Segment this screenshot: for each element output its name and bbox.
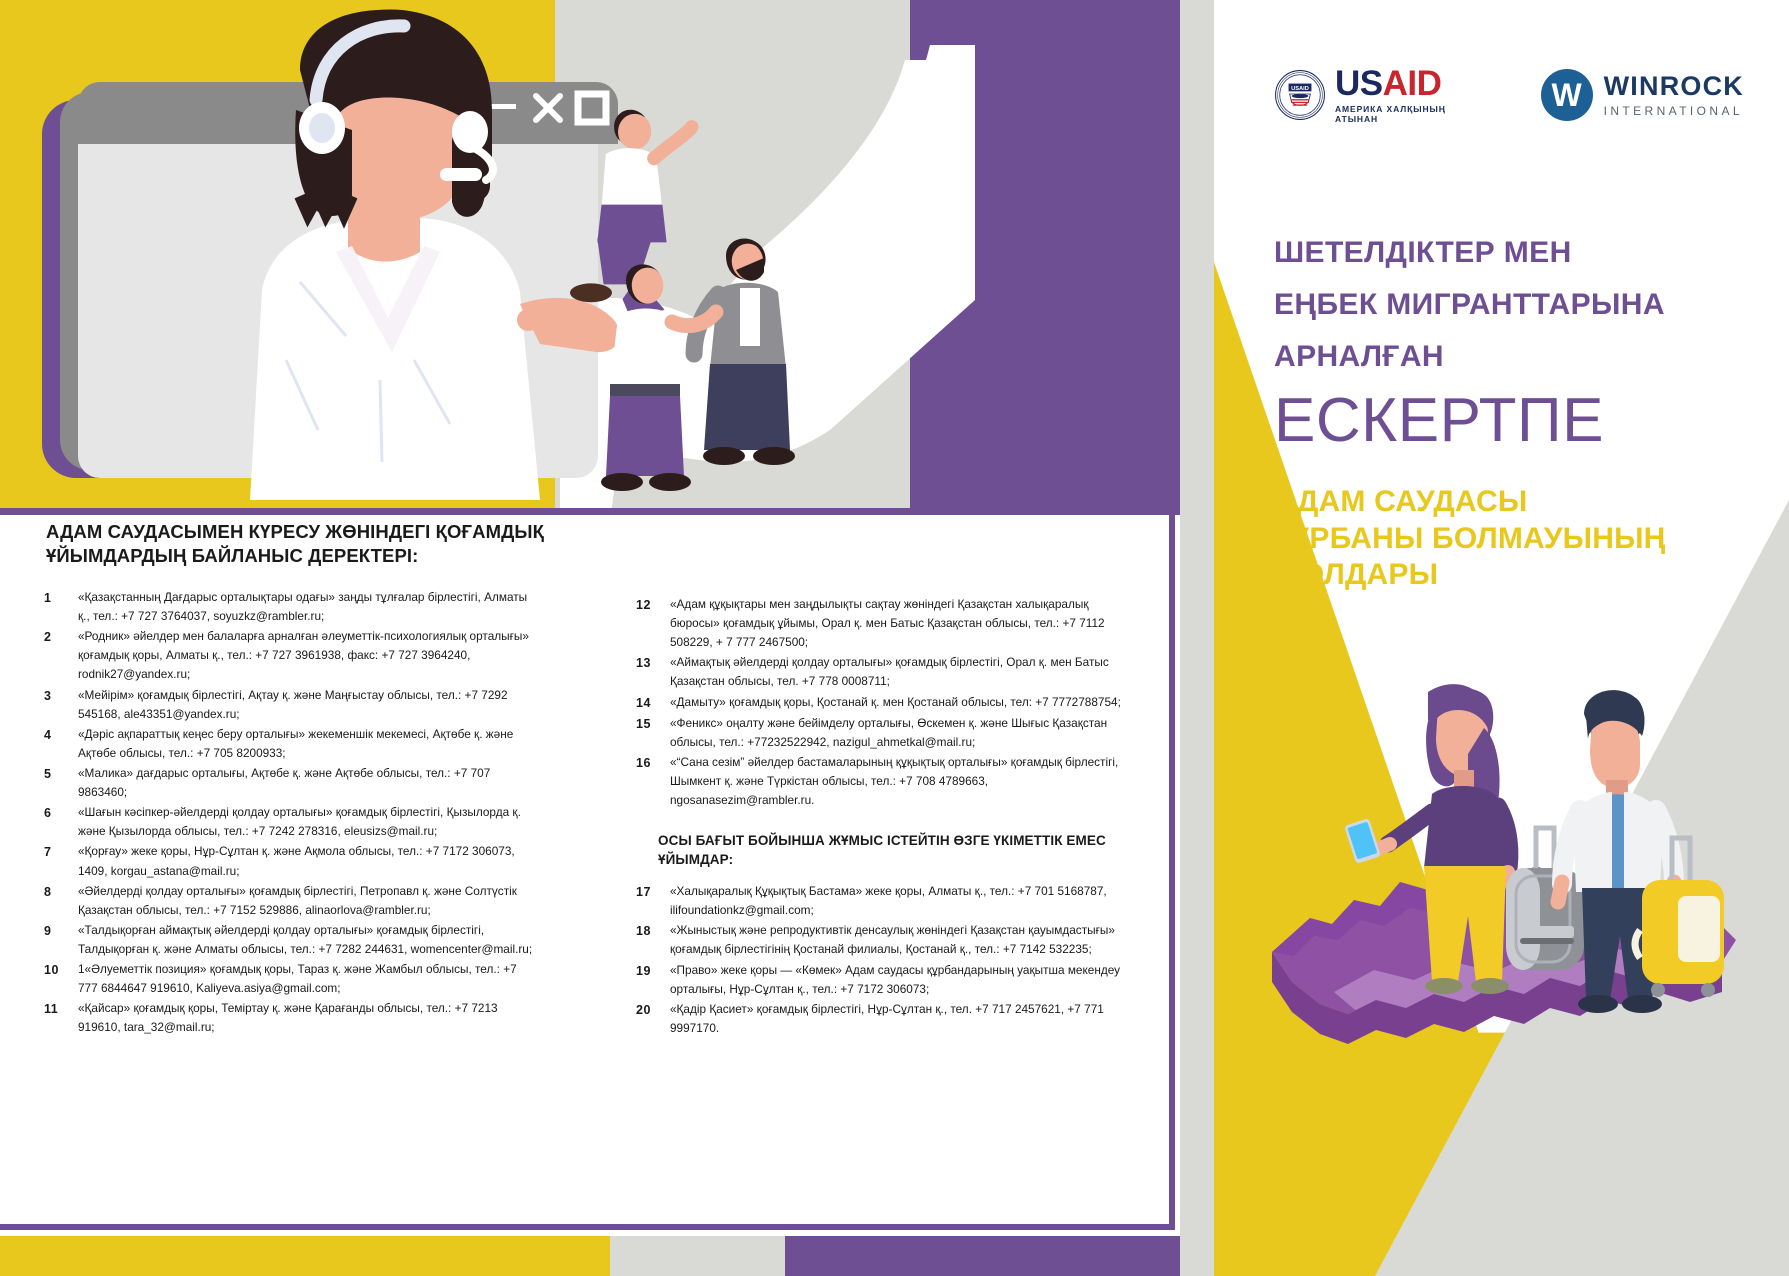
cover-subtitle-line-2: ҚҰРБАНЫ БОЛМАУЫНЫҢ [1274,521,1774,558]
contacts-column-right: 12«Адам құқықтары мен заңдылықты сақтау … [628,595,1128,1039]
contact-list-item: 3«Мейірім» қоғамдық бірлестігі, Ақтау қ.… [36,686,536,724]
contact-item-text: «Қадір Қасиет» қоғамдық бірлестігі, Нұр-… [670,1000,1128,1038]
contact-item-number: 18 [628,921,670,959]
usaid-word-aid: AID [1383,64,1442,103]
purple-divider-rule [0,508,1180,515]
contact-item-number: 6 [36,803,78,841]
contact-item-number: 9 [36,921,78,959]
usaid-seal-icon: USAID [1274,69,1326,121]
logo-row: USAID USAID АМЕРИКА ХАЛҚЫНЫҢ АТЫНАН [1274,50,1744,140]
background-strip-grey [1180,0,1214,1276]
contact-item-number: 5 [36,764,78,802]
winrock-logo: W WINROCK INTERNATIONAL [1541,69,1744,121]
contacts-column-left: 1«Қазақстанның Дағдарыс орталықтары одағ… [36,588,536,1039]
contact-item-text: «Қайсар» қоғамдық қоры, Теміртау қ. және… [78,999,536,1037]
winrock-mark-letter: W [1552,79,1582,111]
contact-item-number: 13 [628,653,670,691]
contact-list-item: 4«Дәріс ақпараттық кеңес беру орталығы» … [36,725,536,763]
contact-item-number: 8 [36,882,78,920]
contact-list-item: 7«Қорғау» жеке қоры, Нұр-Сұлтан қ. және … [36,842,536,880]
cover-subtitle-line-1: АДАМ САУДАСЫ [1274,484,1774,521]
contact-list-item: 18«Жыныстық және репродуктивтік денсаулы… [628,921,1128,959]
contacts-heading: АДАМ САУДАСЫМЕН КҮРЕСУ ЖӨНІНДЕГІ ҚОҒАМДЫ… [46,520,606,568]
migrants-on-kazakhstan-map-illustration [1214,600,1789,1220]
contact-item-text: «Шағын кәсіпкер-әйелдерді қолдау орталығ… [78,803,536,841]
contact-item-text: «Адам құқықтары мен заңдылықты сақтау жө… [670,595,1128,652]
contact-item-number: 7 [36,842,78,880]
contact-list-item: 13«Аймақтық әйелдерді қолдау орталығы» қ… [628,653,1128,691]
footer-bar-grey [610,1236,785,1276]
contact-list-item: 9«Талдықорған аймақтық әйелдерді қолдау … [36,921,536,959]
contact-list-item: 101«Әлуеметтік позиция» қоғамдық қоры, Т… [36,960,536,998]
contact-list-item: 19«Право» жеке қоры — «Көмек» Адам сауда… [628,961,1128,999]
contact-item-text: «Халықаралық Құқықтық Бастама» жеке қоры… [670,882,1128,920]
svg-text:USAID: USAID [1291,86,1309,92]
contact-item-text: 1«Әлуеметтік позиция» қоғамдық қоры, Тар… [78,960,536,998]
cover-title-line-3: АРНАЛҒАН [1274,342,1774,372]
contact-list-item: 14«Дамыту» қоғамдық қоры, Қостанай қ. ме… [628,693,1128,713]
contact-list-item: 5«Малика» дағдарыс орталығы, Ақтөбе қ. ж… [36,764,536,802]
contacts-subheading: ОСЫ БАҒЫТ БОЙЫНША ЖҰМЫС ІСТЕЙТІН ӨЗГЕ ҮК… [658,832,1128,870]
cover-title-main: ЕСКЕРТПЕ [1274,390,1774,452]
contact-list-item: 16«“Сана сезім” әйелдер бастамаларының қ… [628,753,1128,810]
winrock-wordmark: WINROCK [1604,73,1744,100]
cover-subtitle: АДАМ САУДАСЫ ҚҰРБАНЫ БОЛМАУЫНЫҢ ЖОЛДАРЫ [1274,484,1774,594]
contact-item-number: 17 [628,882,670,920]
contact-item-number: 11 [36,999,78,1037]
contact-item-text: «Малика» дағдарыс орталығы, Ақтөбе қ. жә… [78,764,536,802]
contact-item-text: «Феникс» оңалту және бейімделу орталығы,… [670,714,1128,752]
contact-item-number: 10 [36,960,78,998]
contact-list-item: 12«Адам құқықтары мен заңдылықты сақтау … [628,595,1128,652]
contact-item-number: 19 [628,961,670,999]
cover-title: ШЕТЕЛДІКТЕР МЕН ЕҢБЕК МИГРАНТТАРЫНА АРНА… [1274,238,1774,452]
contact-item-text: «Родник» әйелдер мен балаларға арналған … [78,627,536,684]
contact-item-text: «“Сана сезім” әйелдер бастамаларының құқ… [670,753,1128,810]
winrock-subtitle: INTERNATIONAL [1604,104,1744,118]
contact-list-item: 2«Родник» әйелдер мен балаларға арналған… [36,627,536,684]
contact-item-text: «Право» жеке қоры — «Көмек» Адам саудасы… [670,961,1128,999]
contact-item-number: 14 [628,693,670,713]
contact-item-number: 3 [36,686,78,724]
contact-item-number: 20 [628,1000,670,1038]
contact-item-text: «Талдықорған аймақтық әйелдерді қолдау о… [78,921,536,959]
usaid-tagline: АМЕРИКА ХАЛҚЫНЫҢ АТЫНАН [1335,104,1489,124]
contact-item-number: 12 [628,595,670,652]
cover-subtitle-line-3: ЖОЛДАРЫ [1274,557,1774,594]
winrock-w-icon: W [1541,69,1593,121]
contact-item-number: 15 [628,714,670,752]
contact-item-text: «Жыныстық және репродуктивтік денсаулық … [670,921,1128,959]
contact-item-number: 16 [628,753,670,810]
contact-item-text: «Дәріс ақпараттық кеңес беру орталығы» ж… [78,725,536,763]
contact-item-number: 1 [36,588,78,626]
contact-item-text: «Қазақстанның Дағдарыс орталықтары одағы… [78,588,536,626]
cover-panel: USAID USAID АМЕРИКА ХАЛҚЫНЫҢ АТЫНАН [1214,0,1789,1276]
brochure-page: АДАМ САУДАСЫМЕН КҮРЕСУ ЖӨНІНДЕГІ ҚОҒАМДЫ… [0,0,1789,1276]
contact-list-item: 17«Халықаралық Құқықтық Бастама» жеке қо… [628,882,1128,920]
cover-title-line-1: ШЕТЕЛДІКТЕР МЕН [1274,238,1774,268]
contact-item-text: «Қорғау» жеке қоры, Нұр-Сұлтан қ. және А… [78,842,536,880]
footer-bar-yellow [0,1236,610,1276]
usaid-logo: USAID USAID АМЕРИКА ХАЛҚЫНЫҢ АТЫНАН [1274,66,1489,124]
contact-list-item: 20«Қадір Қасиет» қоғамдық бірлестігі, Нұ… [628,1000,1128,1038]
contact-item-number: 4 [36,725,78,763]
contact-item-text: «Аймақтық әйелдерді қолдау орталығы» қоғ… [670,653,1128,691]
call-center-operator-illustration [0,0,975,512]
contact-list-item: 8«Әйелдерді қолдау орталығы» қоғамдық бі… [36,882,536,920]
contact-list-item: 1«Қазақстанның Дағдарыс орталықтары одағ… [36,588,536,626]
contact-list-item: 6«Шағын кәсіпкер-әйелдерді қолдау орталы… [36,803,536,841]
footer-bar-purple [785,1236,1180,1276]
contact-item-text: «Мейірім» қоғамдық бірлестігі, Ақтау қ. … [78,686,536,724]
contact-item-text: «Дамыту» қоғамдық қоры, Қостанай қ. мен … [670,693,1128,713]
contact-list-item: 15«Феникс» оңалту және бейімделу орталығ… [628,714,1128,752]
contact-list-item: 11«Қайсар» қоғамдық қоры, Теміртау қ. жә… [36,999,536,1037]
cover-title-line-2: ЕҢБЕК МИГРАНТТАРЫНА [1274,290,1774,320]
contact-item-text: «Әйелдерді қолдау орталығы» қоғамдық бір… [78,882,536,920]
usaid-word-us: US [1335,64,1383,103]
contact-item-number: 2 [36,627,78,684]
